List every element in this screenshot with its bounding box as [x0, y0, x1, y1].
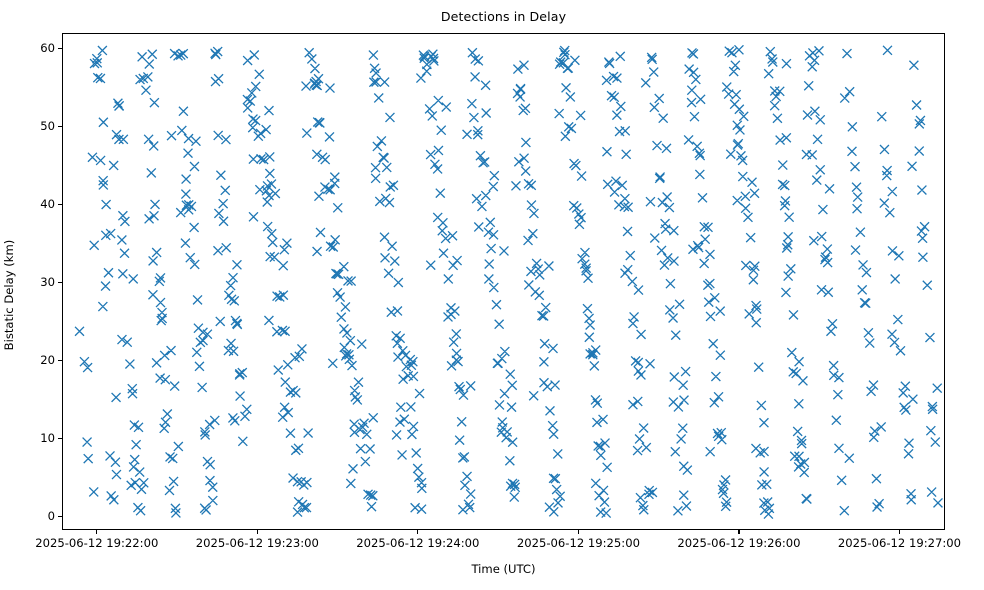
chart-title: Detections in Delay: [62, 9, 945, 24]
y-tick-label: 30: [40, 274, 55, 291]
y-tick-label: 0: [48, 508, 55, 525]
y-tick-label: 10: [40, 430, 55, 447]
x-axis-label: Time (UTC): [62, 562, 945, 576]
x-tick-label: 2025-06-12 19:25:00: [517, 536, 640, 551]
x-tick-label: 2025-06-12 19:24:00: [356, 536, 479, 551]
x-tick-label: 2025-06-12 19:22:00: [35, 536, 158, 551]
y-axis-ticks: 0102030405060: [0, 33, 62, 530]
scatter-marker-path: [75, 45, 942, 518]
y-tick-label: 20: [40, 352, 55, 369]
x-tick-mark: [96, 530, 97, 534]
x-tick-label: 2025-06-12 19:26:00: [677, 536, 800, 551]
x-tick-mark: [738, 530, 739, 534]
scatter-series: [63, 34, 945, 530]
x-tick-label: 2025-06-12 19:27:00: [838, 536, 961, 551]
x-tick-mark: [417, 530, 418, 534]
matplotlib-figure: Detections in Delay Bistatic Delay (km) …: [0, 0, 984, 590]
x-tick-mark: [257, 530, 258, 534]
x-tick-label: 2025-06-12 19:23:00: [196, 536, 319, 551]
y-tick-label: 50: [40, 118, 55, 135]
y-tick-label: 60: [40, 40, 55, 57]
y-tick-label: 40: [40, 196, 55, 213]
x-tick-mark: [578, 530, 579, 534]
scatter-points-group: [75, 45, 942, 518]
plot-area: [62, 33, 945, 530]
x-tick-mark: [899, 530, 900, 534]
